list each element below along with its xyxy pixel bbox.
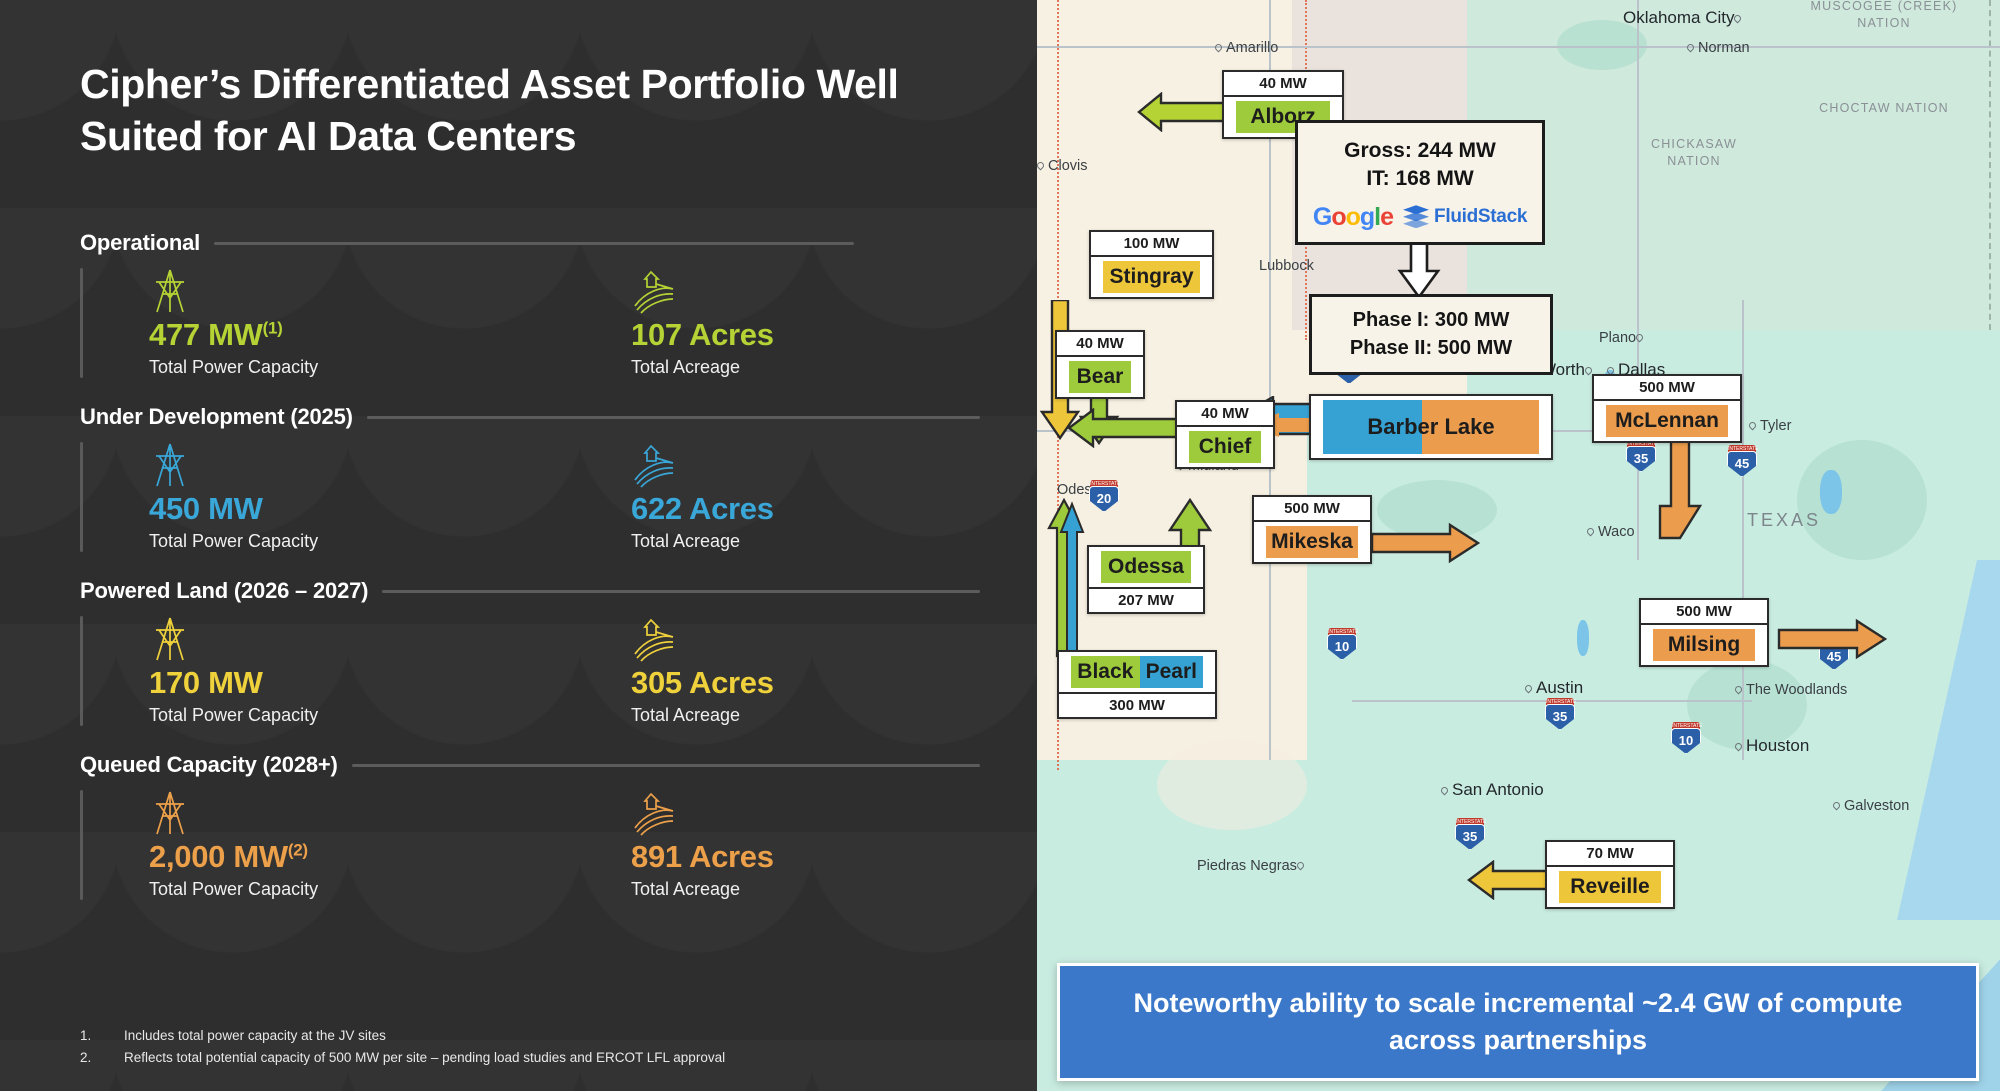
site-chief[interactable]: 40 MW Chief: [1175, 400, 1275, 469]
footnote-item: 2. Reflects total potential capacity of …: [80, 1047, 725, 1069]
page-title: Cipher’s Differentiated Asset Portfolio …: [80, 58, 960, 163]
fluidstack-mark-icon: [1403, 205, 1429, 229]
section-header: Powered Land (2026 – 2027): [80, 576, 980, 606]
metric-label: Total Acreage: [631, 531, 774, 552]
city-label: Galveston: [1833, 798, 1909, 814]
section-accent-bar: [80, 616, 83, 726]
site-capacity: 207 MW: [1089, 587, 1203, 612]
metric-value: 2,000 MW(2): [149, 840, 631, 874]
gross-line: Gross: 244 MW: [1308, 137, 1532, 165]
metric-acreage: 622 Acres Total Acreage: [631, 442, 774, 552]
metric-label: Total Power Capacity: [149, 705, 631, 726]
section-accent-bar: [80, 442, 83, 552]
tribal-nation-label: MUSCOGEE (CREEK) NATION: [1809, 0, 1959, 32]
arrow-mikeska-right: [1370, 522, 1480, 564]
section-divider: [367, 416, 980, 419]
city-label: Waco: [1587, 524, 1635, 540]
site-mclennan[interactable]: 500 MW McLennan: [1592, 374, 1742, 443]
interstate-shield-icon: INTERSTATE35: [1626, 440, 1656, 472]
site-odessa[interactable]: Odessa 207 MW: [1087, 545, 1205, 614]
transmission-tower-icon: [149, 442, 631, 488]
city-label: The Woodlands: [1735, 682, 1825, 699]
footnote-number: 2.: [80, 1047, 124, 1069]
site-name: Bear: [1057, 355, 1143, 397]
section-body: 450 MW Total Power Capacity 622 Acres To…: [80, 442, 980, 552]
metric-value: 450 MW: [149, 492, 631, 526]
arrow-gross-to-phase-down: [1397, 237, 1441, 299]
city-label: Lubbock: [1259, 258, 1314, 274]
gross-capacity-box[interactable]: Gross: 244 MW IT: 168 MW Google FluidSta…: [1295, 120, 1545, 245]
map-panel[interactable]: Oklahoma City Norman Amarillo Clovis Lub…: [1037, 0, 2000, 1091]
section-powered-land: Powered Land (2026 – 2027) 170 MW Total …: [80, 576, 980, 726]
site-capacity: 40 MW: [1057, 332, 1143, 355]
metric-label: Total Acreage: [631, 705, 774, 726]
site-black-pearl[interactable]: Black Pearl 300 MW: [1057, 650, 1217, 719]
map-lake: [1577, 620, 1589, 656]
interstate-shield-icon: INTERSTATE45: [1727, 445, 1757, 477]
metric-label: Total Power Capacity: [149, 879, 631, 900]
site-milsing[interactable]: 500 MW Milsing: [1639, 598, 1769, 667]
metric-label: Total Acreage: [631, 879, 774, 900]
site-stingray[interactable]: 100 MW Stingray: [1089, 230, 1214, 299]
phase-one-line: Phase I: 300 MW: [1320, 307, 1542, 335]
metric-value: 477 MW(1): [149, 318, 631, 352]
site-capacity: 500 MW: [1594, 376, 1740, 399]
map-road: [1037, 46, 2000, 48]
google-logo-icon: Google: [1313, 203, 1393, 232]
interstate-shield-icon: INTERSTATE35: [1455, 818, 1485, 850]
city-label: Houston: [1735, 736, 1809, 756]
tribal-nation-label: CHICKASAW NATION: [1629, 136, 1759, 170]
site-name: Mikeska: [1254, 520, 1370, 562]
transmission-tower-icon: [149, 616, 631, 662]
tribal-nation-label: CHOCTAW NATION: [1819, 100, 1949, 117]
city-label: Tyler: [1749, 418, 1791, 434]
metric-power: 170 MW Total Power Capacity: [149, 616, 631, 726]
footnote-text: Includes total power capacity at the JV …: [124, 1025, 386, 1047]
site-name: Reveille: [1547, 865, 1673, 907]
metrics-sections: Operational 477 MW(1) Total Power Capaci…: [80, 228, 980, 924]
metric-acreage: 107 Acres Total Acreage: [631, 268, 774, 378]
city-label: Piedras Negras: [1197, 858, 1308, 874]
metric-value: 170 MW: [149, 666, 631, 700]
site-barber-lake[interactable]: Barber Lake: [1309, 394, 1553, 460]
site-capacity: 40 MW: [1224, 72, 1342, 95]
section-operational: Operational 477 MW(1) Total Power Capaci…: [80, 228, 980, 378]
site-name: Chief: [1177, 425, 1273, 467]
site-bear[interactable]: 40 MW Bear: [1055, 330, 1145, 399]
site-name: McLennan: [1594, 399, 1740, 441]
site-name: Black Pearl: [1059, 652, 1215, 692]
section-header: Queued Capacity (2028+): [80, 750, 980, 780]
site-capacity: 70 MW: [1547, 842, 1673, 865]
arrow-milsing-right: [1777, 618, 1887, 660]
arrow-alborz-left: [1137, 92, 1227, 132]
metric-acreage: 305 Acres Total Acreage: [631, 616, 774, 726]
section-body: 2,000 MW(2) Total Power Capacity 891 Acr…: [80, 790, 980, 900]
metric-value: 891 Acres: [631, 840, 774, 874]
interstate-shield-icon: INTERSTATE20: [1089, 480, 1119, 512]
metric-acreage: 891 Acres Total Acreage: [631, 790, 774, 900]
land-acreage-icon: [631, 790, 774, 836]
it-line: IT: 168 MW: [1308, 165, 1532, 193]
site-capacity: 500 MW: [1641, 600, 1767, 623]
metric-power: 450 MW Total Power Capacity: [149, 442, 631, 552]
site-name: Barber Lake: [1311, 396, 1551, 458]
metric-value: 305 Acres: [631, 666, 774, 700]
fluidstack-logo: FluidStack: [1403, 205, 1527, 229]
site-capacity: 100 MW: [1091, 232, 1212, 255]
site-name: Stingray: [1091, 255, 1212, 297]
section-queued-capacity: Queued Capacity (2028+) 2,000 MW(2) Tota…: [80, 750, 980, 900]
footnote-item: 1. Includes total power capacity at the …: [80, 1025, 725, 1047]
city-label: Clovis: [1037, 158, 1087, 174]
metric-label: Total Acreage: [631, 357, 774, 378]
metric-power: 2,000 MW(2) Total Power Capacity: [149, 790, 631, 900]
land-acreage-icon: [631, 442, 774, 488]
arrow-black-pearl-up-blue: [1059, 498, 1085, 658]
left-panel: Cipher’s Differentiated Asset Portfolio …: [0, 0, 1037, 1091]
site-capacity: 300 MW: [1059, 692, 1215, 717]
section-divider: [352, 764, 980, 767]
section-title: Operational: [80, 230, 200, 256]
metric-label: Total Power Capacity: [149, 531, 631, 552]
city-label: San Antonio: [1441, 780, 1544, 800]
metric-value: 107 Acres: [631, 318, 774, 352]
land-acreage-icon: [631, 616, 774, 662]
map-lake: [1820, 470, 1842, 514]
footnote-text: Reflects total potential capacity of 500…: [124, 1047, 725, 1069]
city-label: Oklahoma City: [1623, 8, 1745, 28]
section-header: Operational: [80, 228, 980, 258]
map-vegetation: [1157, 740, 1307, 830]
section-divider: [382, 590, 980, 593]
site-capacity: 500 MW: [1254, 497, 1370, 520]
section-divider: [214, 242, 854, 245]
state-label-texas: TEXAS: [1747, 510, 1821, 531]
land-acreage-icon: [631, 268, 774, 314]
phase-capacity-box[interactable]: Phase I: 300 MW Phase II: 500 MW: [1309, 294, 1553, 375]
site-mikeska[interactable]: 500 MW Mikeska: [1252, 495, 1372, 564]
metric-power: 477 MW(1) Total Power Capacity: [149, 268, 631, 378]
section-header: Under Development (2025): [80, 402, 980, 432]
interstate-shield-icon: INTERSTATE10: [1327, 628, 1357, 660]
site-capacity: 40 MW: [1177, 402, 1273, 425]
slide-root: Cipher’s Differentiated Asset Portfolio …: [0, 0, 2000, 1091]
city-label: Amarillo: [1215, 40, 1278, 56]
partner-logos: Google FluidStack: [1308, 203, 1532, 232]
map-state-border: [1989, 0, 1991, 330]
section-title: Under Development (2025): [80, 404, 353, 430]
footnotes: 1. Includes total power capacity at the …: [80, 1025, 725, 1069]
section-accent-bar: [80, 790, 83, 900]
section-title: Queued Capacity (2028+): [80, 752, 338, 778]
phase-two-line: Phase II: 500 MW: [1320, 335, 1542, 363]
map-road: [1637, 0, 1639, 560]
fluidstack-label: FluidStack: [1434, 206, 1527, 228]
banner-text: Noteworthy ability to scale incremental …: [1100, 985, 1936, 1060]
city-label: Plano: [1599, 330, 1647, 346]
section-body: 477 MW(1) Total Power Capacity 107 Acres…: [80, 268, 980, 378]
section-accent-bar: [80, 268, 83, 378]
map-vegetation: [1797, 440, 1927, 560]
footnote-number: 1.: [80, 1025, 124, 1047]
interstate-shield-icon: INTERSTATE10: [1671, 722, 1701, 754]
bottom-banner: Noteworthy ability to scale incremental …: [1057, 963, 1979, 1081]
site-name: Odessa: [1089, 547, 1203, 587]
section-under-development: Under Development (2025) 450 MW Total Po…: [80, 402, 980, 552]
city-label: Norman: [1687, 40, 1750, 56]
section-title: Powered Land (2026 – 2027): [80, 578, 368, 604]
transmission-tower-icon: [149, 268, 631, 314]
interstate-shield-icon: INTERSTATE35: [1545, 698, 1575, 730]
site-name: Milsing: [1641, 623, 1767, 665]
section-body: 170 MW Total Power Capacity 305 Acres To…: [80, 616, 980, 726]
metric-value: 622 Acres: [631, 492, 774, 526]
city-label: Austin: [1525, 678, 1583, 698]
site-reveille[interactable]: 70 MW Reveille: [1545, 840, 1675, 909]
metric-label: Total Power Capacity: [149, 357, 631, 378]
transmission-tower-icon: [149, 790, 631, 836]
